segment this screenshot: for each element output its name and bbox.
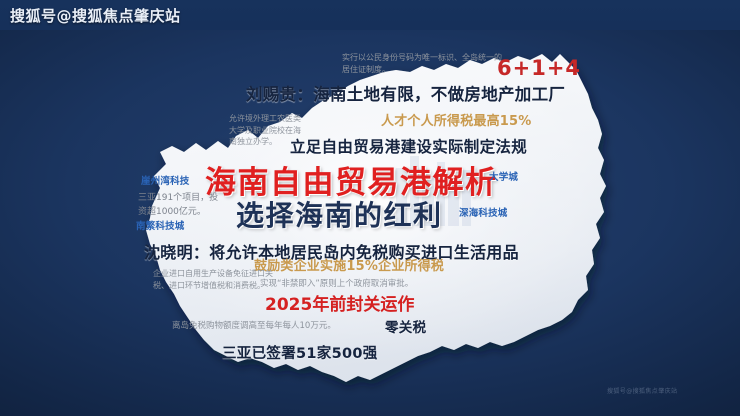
encouraged-enterprise-tax-line: 鼓励类企业实施15%企业所得税 — [254, 259, 444, 275]
talent-income-tax-line: 人才个人所得税最高15% — [381, 114, 532, 130]
label-nanfan-tech-city: 南繁科技城 — [136, 221, 185, 233]
main-title-line-2: 选择海南的红利 — [236, 198, 443, 233]
residence-permit-note: 实行以公民身份号码为唯一标识、全岛统一的居住证制度。 — [342, 52, 502, 75]
main-title-line-1: 海南自由贸易港解析 — [205, 164, 498, 203]
bottom-corner-watermark: 搜狐号@搜狐焦点肇庆站 — [607, 386, 677, 395]
duty-free-quota-note: 离岛免税购物额度调高至每年每人10万元。 — [172, 320, 372, 332]
fta-legislation-line: 立足自由贸易港建设实际制定法规 — [290, 138, 527, 157]
infographic-poster: 实行以公民身份号码为唯一标识、全岛统一的居住证制度。 6+1+4 刘赐贵：海南土… — [0, 0, 740, 416]
label-university-town: 大学城 — [489, 172, 518, 184]
zero-tariff-line: 零关税 — [385, 320, 426, 337]
label-yazhouwan-tech: 崖州湾科技 — [141, 176, 190, 188]
sohu-account-watermark: 搜狐号@搜狐焦点肇庆站 — [10, 5, 181, 26]
six-one-four-badge: 6+1+4 — [497, 55, 581, 81]
before-2025-closure-line: 2025年前封关运作 — [265, 295, 414, 316]
sanya-investment-note: 三亚191个项目，投资超1000亿元。 — [138, 192, 224, 219]
non-prohibited-entry-note: 实现“非禁即入”原则上个政府取消审批。 — [260, 278, 510, 290]
text-overlay-layer: 实行以公民身份号码为唯一标识、全岛统一的居住证制度。 6+1+4 刘赐贵：海南土… — [0, 0, 740, 416]
sanya-fortune500-line: 三亚已签署51家500强 — [222, 345, 378, 363]
label-deepsea-tech-city: 深海科技城 — [459, 208, 508, 220]
liuxigui-quote: 刘赐贵：海南土地有限，不做房地产加工厂 — [246, 85, 565, 106]
